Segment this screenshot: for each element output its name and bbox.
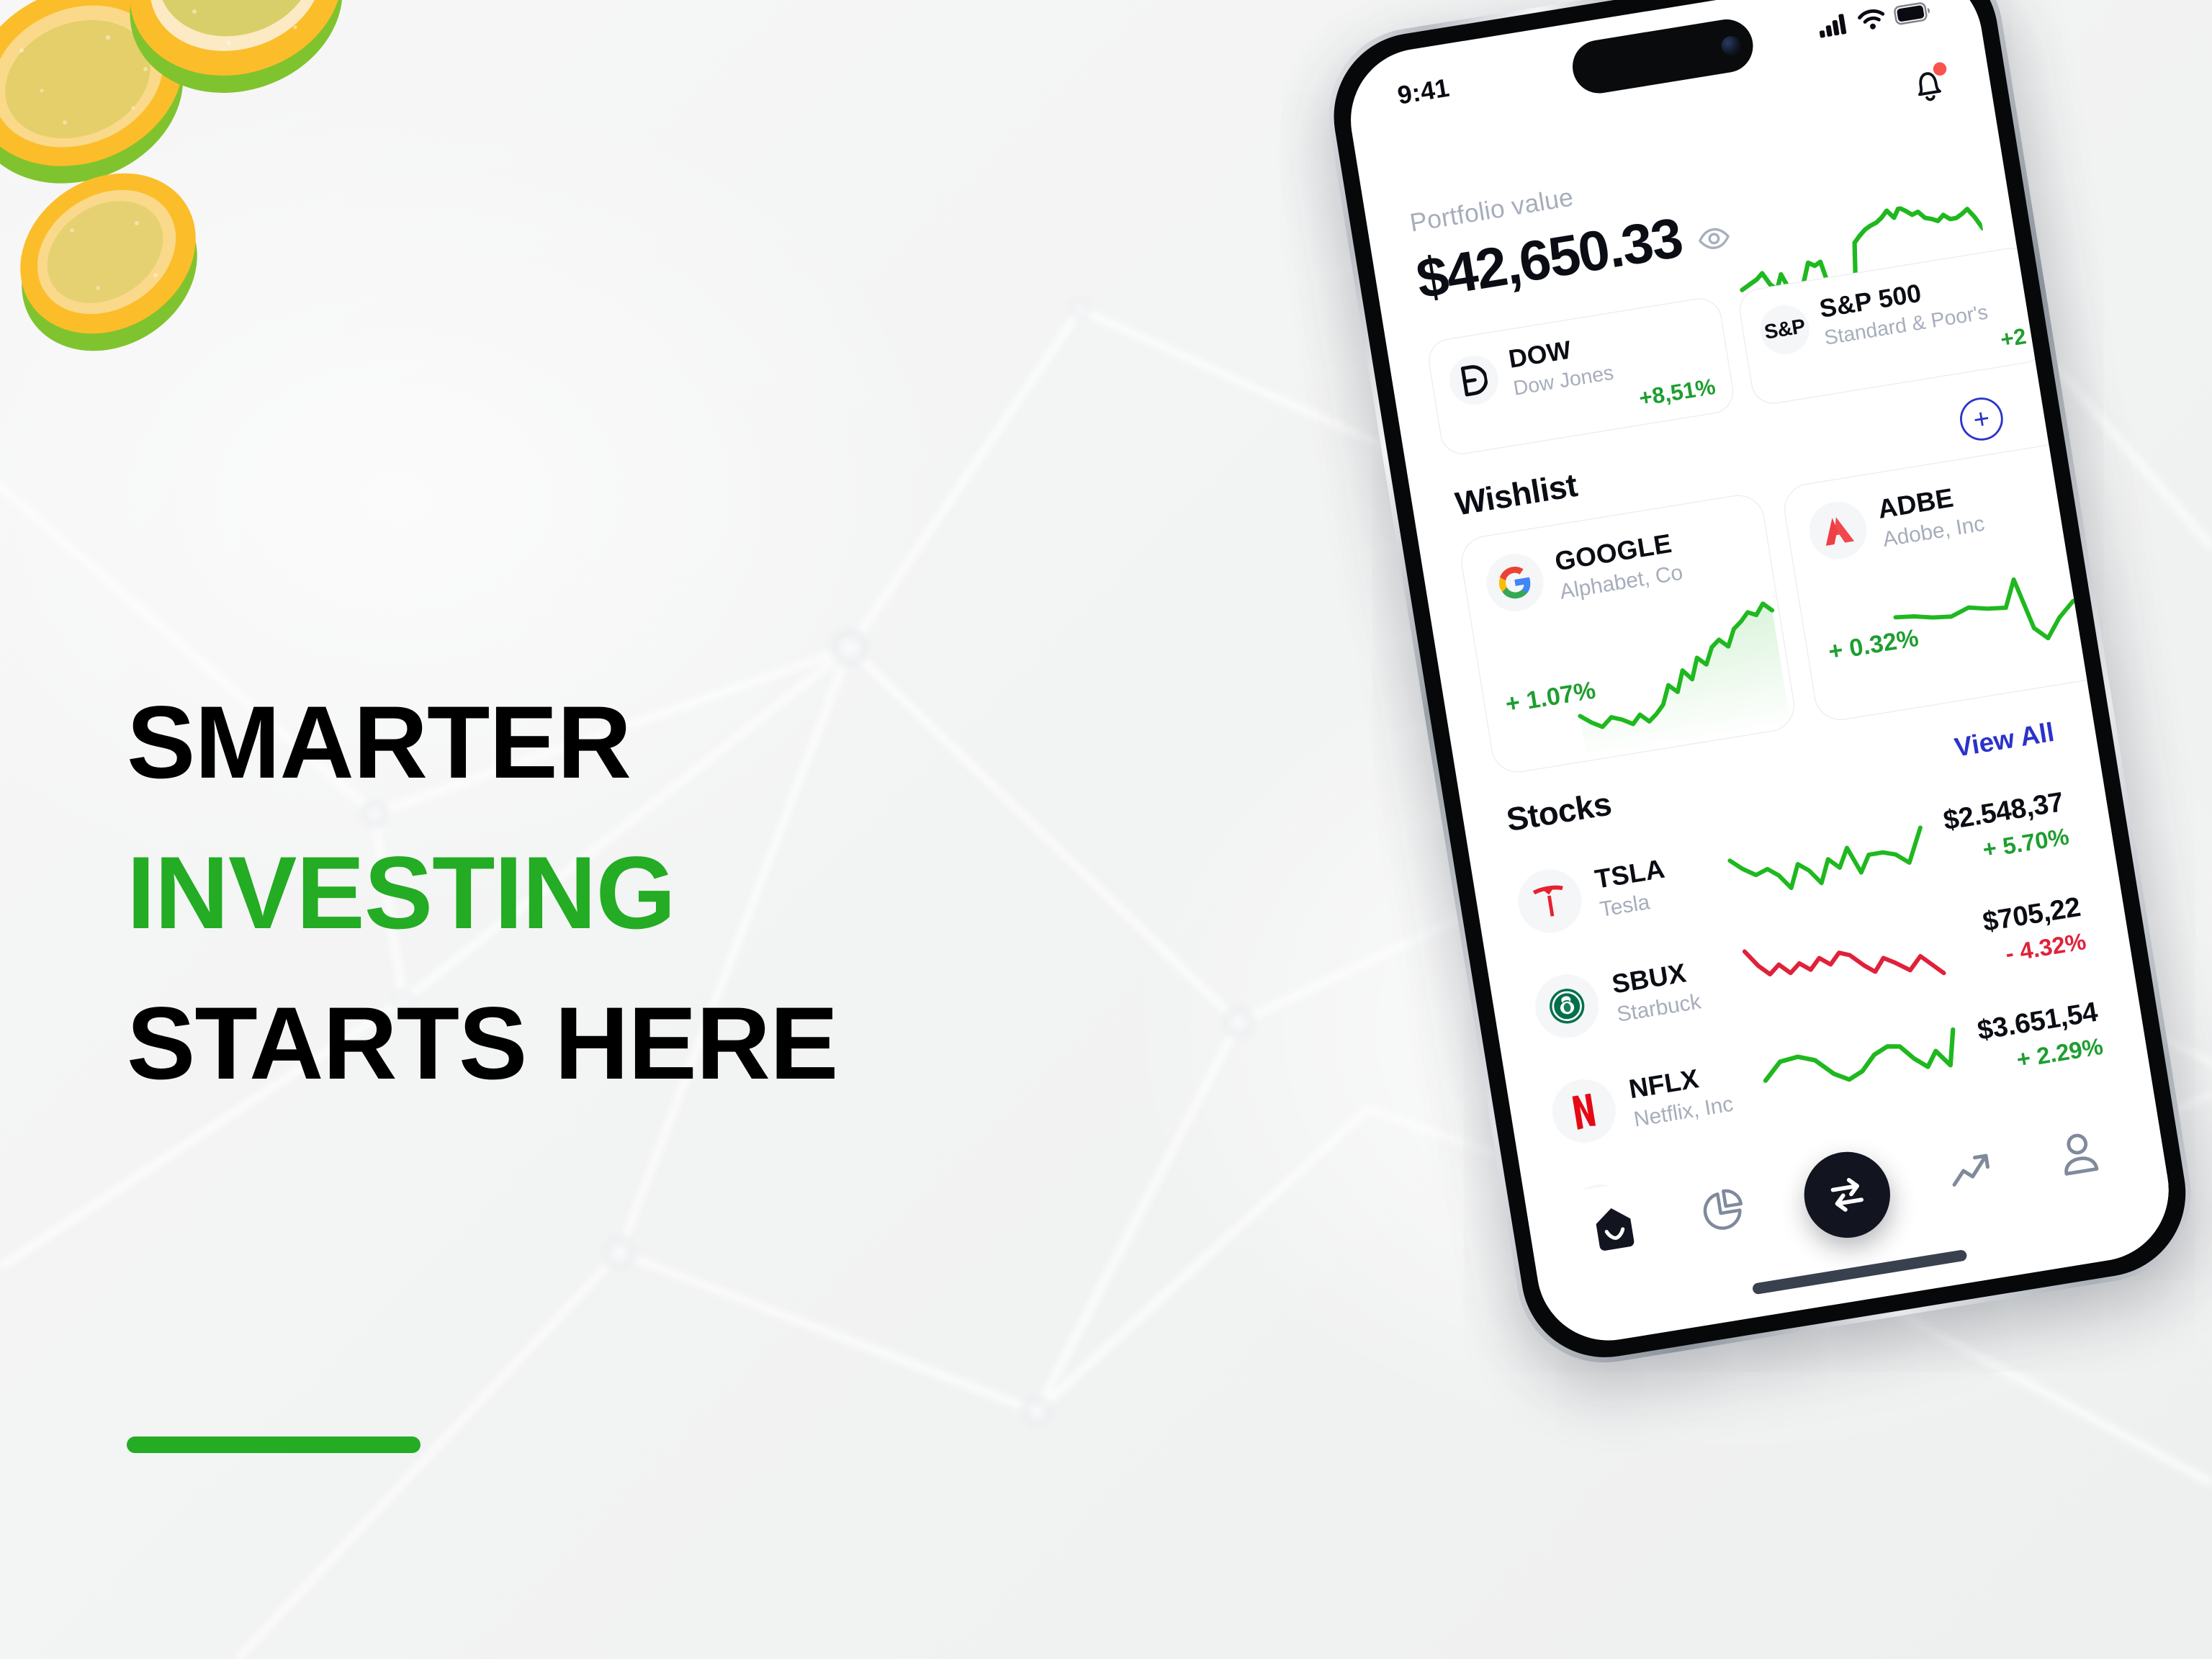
wifi-icon (1856, 7, 1887, 32)
front-camera (1719, 34, 1742, 56)
wishlist-title: Wishlist (1452, 466, 1580, 523)
home-icon[interactable] (1584, 1198, 1645, 1259)
swap-transfer-icon[interactable] (1798, 1146, 1897, 1244)
coin-illustrations (0, 0, 475, 403)
dow-logo-icon (1446, 352, 1502, 408)
eye-icon[interactable] (1696, 225, 1732, 252)
stocks-title: Stocks (1504, 785, 1614, 839)
headline-line-1: SMARTER (127, 691, 1351, 794)
headline-line-3: STARTS HERE (127, 992, 1351, 1095)
accent-underline (127, 1437, 421, 1453)
hero-headline: SMARTER INVESTING STARTS HERE (127, 691, 1351, 1143)
wishlist-card-adobe[interactable]: ADBE Adobe, Inc + 0.32% (1780, 439, 2121, 724)
stock-sparkline (1724, 809, 1932, 903)
plus-circle-icon[interactable]: + (1957, 395, 2006, 444)
profile-icon[interactable] (2048, 1123, 2109, 1184)
starbucks-logo-icon (1531, 970, 1604, 1043)
stock-sparkline (1740, 914, 1948, 1008)
pie-chart-icon[interactable] (1692, 1180, 1753, 1241)
status-time: 9:41 (1395, 73, 1452, 111)
headline-line-2: INVESTING (127, 842, 1351, 945)
stock-sparkline (1758, 1019, 1966, 1113)
bell-icon[interactable] (1907, 63, 1950, 107)
netflix-logo-icon (1547, 1075, 1620, 1148)
battery-icon (1893, 0, 1933, 25)
market-card-change: +2 (1999, 323, 2028, 354)
sp-logo-icon: S&P (1757, 302, 1813, 358)
trending-up-icon[interactable] (1940, 1140, 2001, 1201)
cellular-signal-icon (1817, 13, 1851, 38)
wishlist-card-google[interactable]: GOOGLE Alphabet, Co + 1.07% (1457, 491, 1799, 776)
adobe-logo-icon (1805, 498, 1871, 563)
view-all-link[interactable]: View All (1952, 716, 2056, 764)
market-card-dow[interactable]: DOW Dow Jones +8,51% (1425, 295, 1736, 458)
tesla-logo-icon (1514, 865, 1586, 938)
google-logo-icon (1482, 550, 1547, 616)
wishlist-sparkline (1886, 547, 2121, 709)
wishlist-sparkline (1563, 599, 1797, 761)
